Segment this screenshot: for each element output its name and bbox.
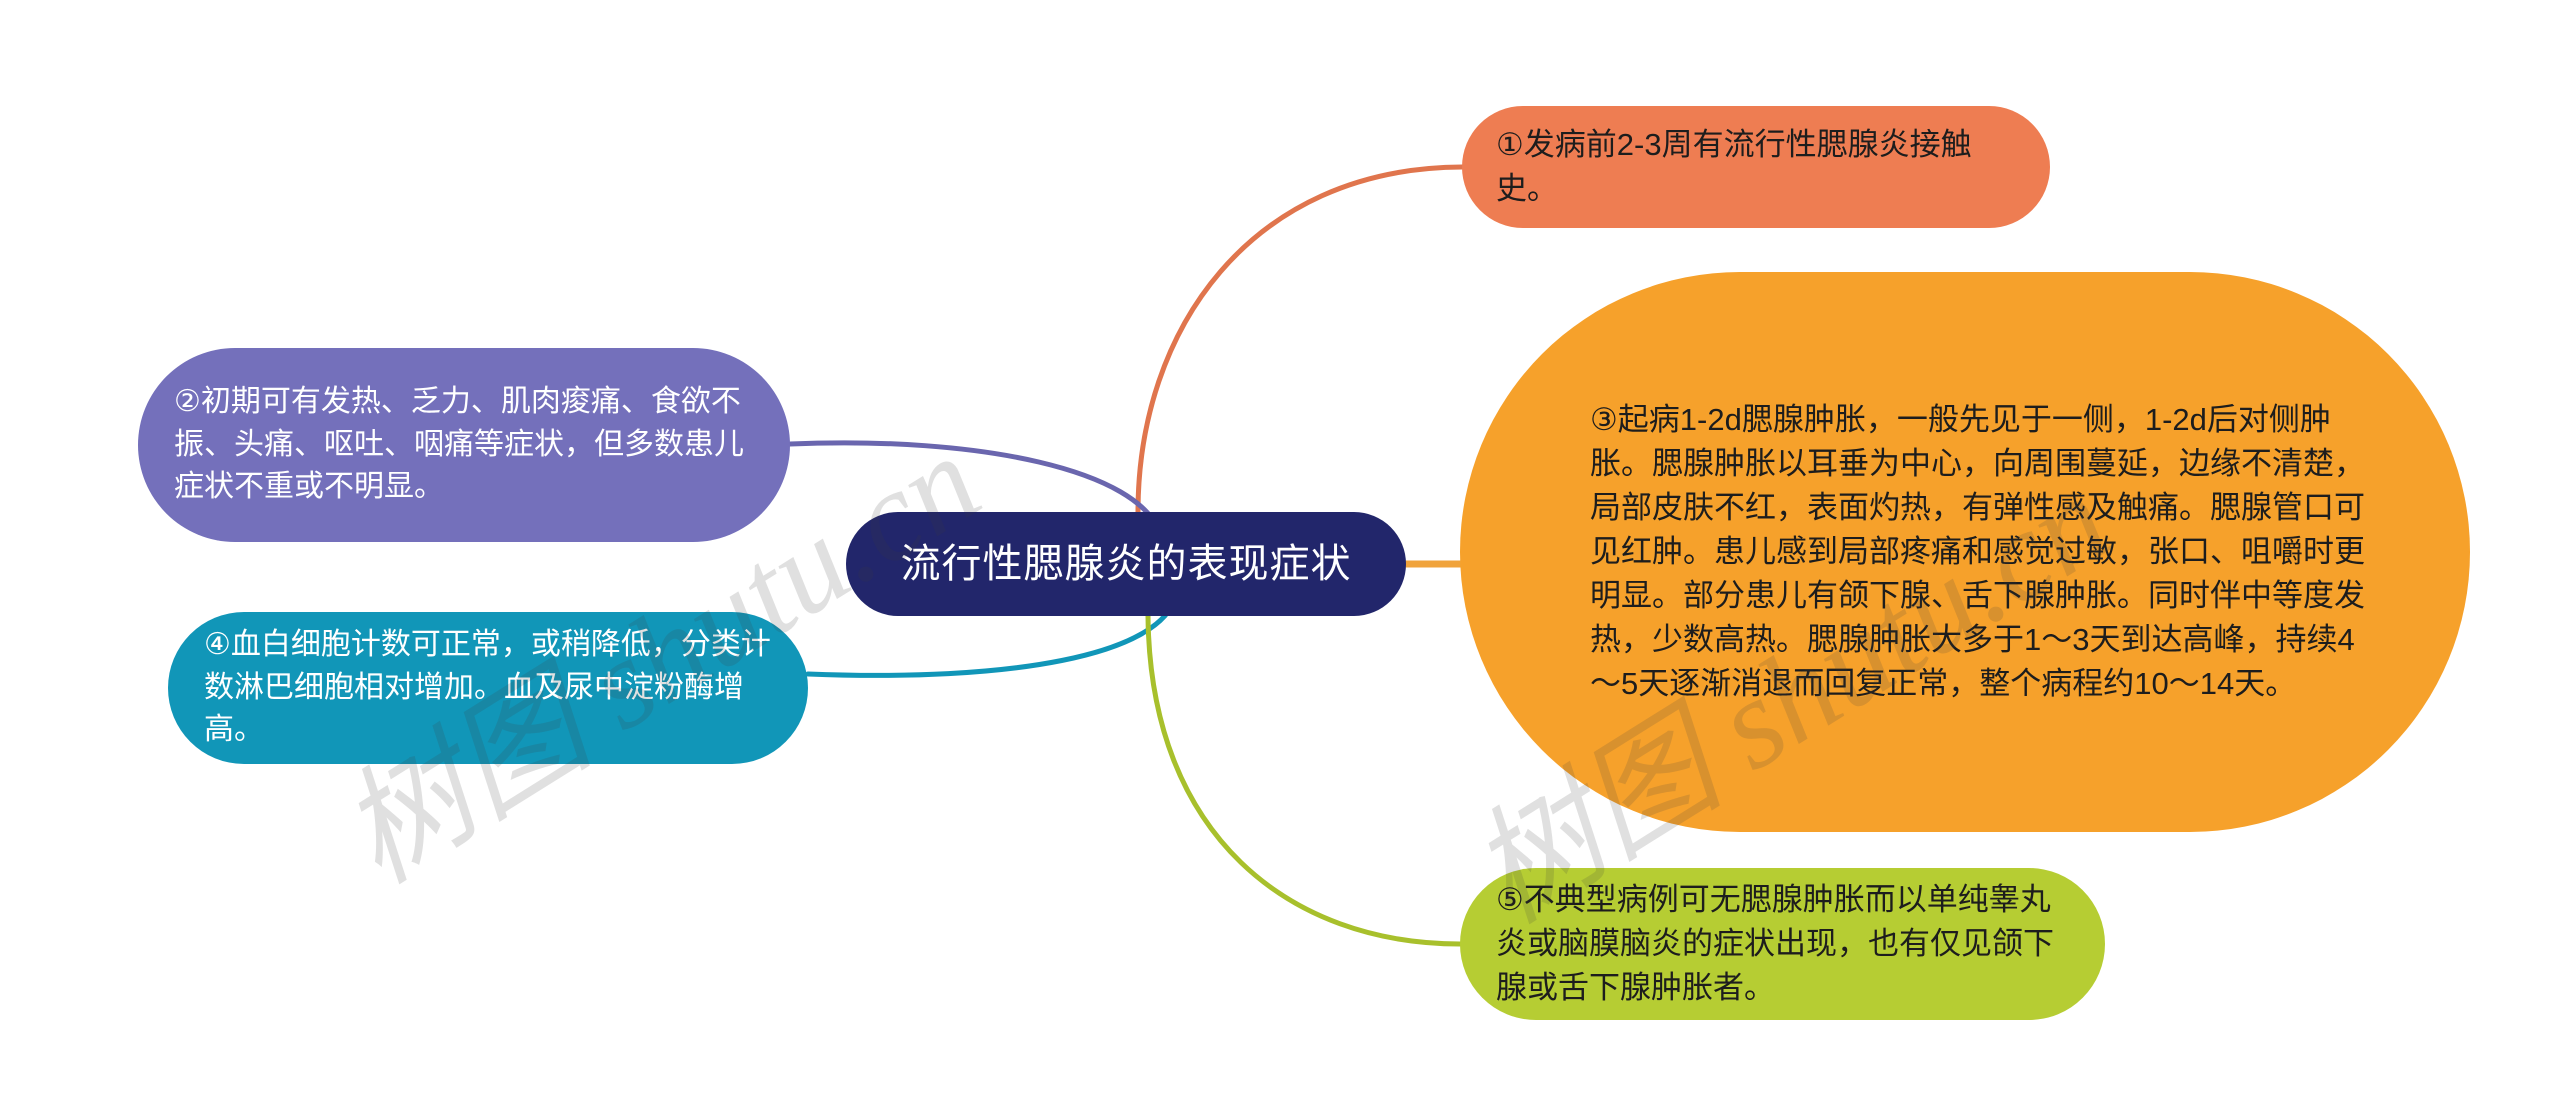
branch-node-2[interactable]: ②初期可有发热、乏力、肌肉痠痛、食欲不振、头痛、呕吐、咽痛等症状，但多数患儿症状… xyxy=(138,348,790,542)
branch-node-3[interactable]: ③起病1-2d腮腺肿胀，一般先见于一侧，1-2d后对侧肿胀。腮腺肿胀以耳垂为中心… xyxy=(1460,272,2470,832)
branch-node-1[interactable]: ①发病前2-3周有流行性腮腺炎接触史。 xyxy=(1462,106,2050,228)
branch-node-5[interactable]: ⑤不典型病例可无腮腺肿胀而以单纯睾丸炎或脑膜脑炎的症状出现，也有仅见颌下腺或舌下… xyxy=(1460,868,2105,1020)
branch-node-5-label: ⑤不典型病例可无腮腺肿胀而以单纯睾丸炎或脑膜脑炎的症状出现，也有仅见颌下腺或舌下… xyxy=(1496,878,2079,1010)
central-topic-label: 流行性腮腺炎的表现症状 xyxy=(846,536,1406,593)
branch-node-3-label: ③起病1-2d腮腺肿胀，一般先见于一侧，1-2d后对侧肿胀。腮腺肿胀以耳垂为中心… xyxy=(1590,398,2384,706)
central-topic-node[interactable]: 流行性腮腺炎的表现症状 xyxy=(846,512,1406,616)
connector-to-branch-5 xyxy=(1148,616,1460,944)
mindmap-canvas: 树图 shutu.cn 树图 shutu.cn 流行性腮腺炎的表现症状 ①发病前… xyxy=(0,0,2560,1117)
branch-node-4[interactable]: ④血白细胞计数可正常，或稍降低，分类计数淋巴细胞相对增加。血及尿中淀粉酶增高。 xyxy=(168,612,808,764)
branch-node-4-label: ④血白细胞计数可正常，或稍降低，分类计数淋巴细胞相对增加。血及尿中淀粉酶增高。 xyxy=(204,624,782,752)
branch-node-2-label: ②初期可有发热、乏力、肌肉痠痛、食欲不振、头痛、呕吐、咽痛等症状，但多数患儿症状… xyxy=(174,381,764,509)
connector-to-branch-1 xyxy=(1138,167,1462,512)
branch-node-1-label: ①发病前2-3周有流行性腮腺炎接触史。 xyxy=(1496,123,2020,211)
